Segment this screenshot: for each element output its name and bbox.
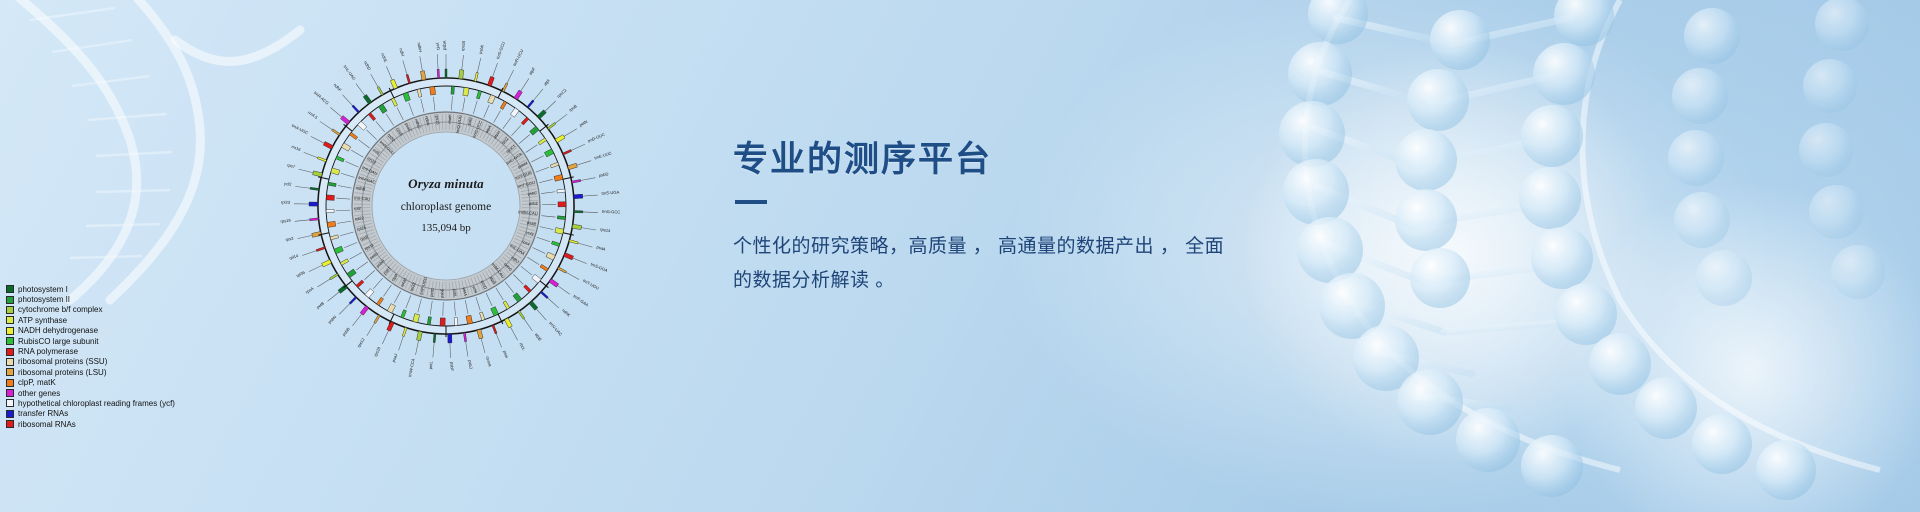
legend-item-label: ribosomal proteins (LSU) — [18, 368, 106, 377]
legend-item: ribosomal proteins (LSU) — [6, 367, 175, 377]
gene-feature-box — [417, 89, 422, 97]
banner-subcopy: 个性化的研究策略，高质量 ， 高通量的数据产出 ， 全面 的数据分析解读 。 — [733, 230, 1263, 297]
gene-label: ndhH — [416, 42, 423, 53]
genome-species-name: Oryza minuta — [236, 176, 656, 192]
gene-feature-box — [391, 98, 397, 106]
gene-feature-box — [518, 311, 525, 320]
legend-item: photosystem II — [6, 294, 175, 304]
gene-feature-box — [547, 122, 555, 129]
banner-headline: 专业的测序平台 — [733, 140, 1433, 180]
gene-feature-box — [488, 95, 496, 104]
gene-feature-box — [334, 246, 343, 254]
gene-feature-box — [491, 307, 499, 316]
headline-underline-rule — [735, 200, 767, 204]
gene-label: ndhI — [398, 48, 405, 57]
gene-label: rps18 — [373, 345, 382, 357]
legend-swatch-icon — [6, 327, 14, 335]
gene-feature-box — [340, 259, 348, 265]
gene-feature-box — [402, 327, 407, 336]
legend-swatch-icon — [6, 348, 14, 356]
gene-feature-box — [406, 74, 410, 83]
gene-label: petL — [428, 360, 434, 369]
gene-label: rrn4.5 — [307, 110, 319, 121]
legend-swatch-icon — [6, 337, 14, 345]
gene-label: rpl36 — [295, 269, 306, 278]
gene-feature-box — [474, 72, 478, 81]
legend-swatch-icon — [6, 379, 14, 387]
legend-item-label: clpP, matK — [18, 378, 56, 387]
legend-item-label: ATP synthase — [18, 316, 67, 325]
gene-feature-box — [466, 315, 473, 324]
legend-swatch-icon — [6, 306, 14, 314]
gene-feature-box — [427, 317, 431, 325]
legend-item: ribosomal RNAs — [6, 419, 175, 429]
gene-feature-box — [377, 87, 383, 96]
gene-feature-box — [514, 90, 522, 100]
gene-label: ndhF — [333, 82, 343, 93]
legend-item-label: cytochrome b/f complex — [18, 305, 102, 314]
gene-label: trnS-GGA — [590, 261, 609, 273]
legend-item-label: other genes — [18, 389, 60, 398]
gene-label: atpF — [528, 66, 537, 76]
gene-feature-box — [527, 100, 534, 108]
gene-feature-box — [503, 301, 510, 309]
legend-item-label: photosystem II — [18, 295, 70, 304]
gene-feature-box — [316, 247, 325, 252]
gene-feature-box — [440, 318, 445, 326]
legend-item-label: NADH dehydrogenase — [18, 326, 98, 335]
gene-label: ndhK — [561, 308, 572, 318]
gene-feature-box — [430, 87, 436, 96]
gene-label: ndhD — [363, 60, 372, 71]
gene-feature-box — [463, 87, 469, 96]
gene-feature-box — [476, 91, 481, 100]
legend-item-label: hypothetical chloroplast reading frames … — [18, 399, 175, 408]
gene-label: rps3 — [285, 235, 295, 242]
gene-feature-box — [349, 296, 357, 304]
gene-label: trnV-UAC — [548, 321, 563, 337]
gene-feature-box — [550, 162, 559, 168]
legend-item: cytochrome b/f complex — [6, 305, 175, 315]
gene-feature-box — [403, 92, 410, 101]
legend-item: ATP synthase — [6, 315, 175, 325]
gene-label: ycf1 — [436, 43, 441, 52]
gene-feature-box — [390, 79, 397, 89]
legend-swatch-icon — [6, 358, 14, 366]
gene-feature-box — [323, 141, 333, 149]
gene-feature-box — [330, 235, 339, 240]
gene-feature-box — [317, 157, 326, 162]
gene-label: trnW-CCA — [407, 358, 416, 377]
gene-label: atpE — [534, 332, 543, 342]
gene-label: trnR-UCU — [512, 48, 524, 66]
legend-item-label: RubisCO large subunit — [18, 337, 98, 346]
gene-feature-box — [540, 291, 548, 299]
gene-feature-box — [368, 113, 375, 121]
gene-label: cemA — [485, 356, 493, 368]
gene-feature-box — [332, 129, 341, 136]
gene-feature-box — [454, 317, 458, 325]
gene-label: trnA-UGC — [291, 123, 309, 136]
gene-feature-box — [433, 333, 436, 342]
gene-feature-box — [336, 156, 345, 162]
gene-label: trnT-UGU — [582, 278, 600, 291]
gene-feature-box — [463, 333, 466, 342]
gene-feature-box — [417, 331, 423, 341]
gene-feature-box — [363, 94, 372, 104]
banner-subcopy-line-2: 的数据分析解读 。 — [733, 264, 1263, 297]
gene-label: trnE-UUC — [594, 150, 612, 160]
gene-feature-box — [564, 253, 574, 260]
gene-feature-box — [360, 306, 369, 316]
gene-label: matK — [447, 114, 453, 124]
gene-feature-box — [413, 314, 420, 323]
gene-label: psbJ — [467, 360, 473, 369]
legend-swatch-icon — [6, 316, 14, 324]
legend-item: hypothetical chloroplast reading frames … — [6, 398, 175, 408]
gene-label: trnR-ACG — [313, 90, 330, 105]
genome-length: 135,094 bp — [236, 222, 656, 234]
gene-label: psaA — [596, 244, 607, 251]
gene-label: atpI — [542, 78, 550, 86]
gene-feature-box — [401, 310, 407, 319]
gene-label: psaJ — [391, 353, 398, 363]
legend-item-label: ribosomal proteins (SSU) — [18, 357, 107, 366]
gene-feature-box — [488, 76, 495, 86]
legend-item: NADH dehydrogenase — [6, 326, 175, 336]
legend-swatch-icon — [6, 389, 14, 397]
gene-feature-box — [555, 135, 565, 143]
banner-subcopy-line-1: 个性化的研究策略，高质量 ， 高通量的数据产出 ， 全面 — [733, 230, 1263, 263]
gene-feature-box — [477, 329, 483, 339]
gene-feature-box — [502, 83, 508, 92]
legend-item: clpP, matK — [6, 378, 175, 388]
gene-label: rps16 — [460, 40, 466, 51]
legend-item-label: RNA polymerase — [18, 347, 78, 356]
genome-center-caption: Oryza minuta chloroplast genome 135,094 … — [236, 176, 656, 234]
legend-item-label: transfer RNAs — [18, 409, 68, 418]
gene-label: psaI — [502, 350, 509, 359]
gene-feature-box — [538, 138, 546, 145]
gene-feature-box — [445, 69, 447, 78]
gene-feature-box — [504, 318, 512, 328]
gene-feature-box — [500, 101, 507, 109]
legend-swatch-icon — [6, 399, 14, 407]
gene-feature-box — [540, 264, 548, 271]
gene-feature-box — [347, 269, 356, 278]
gene-feature-box — [451, 86, 454, 94]
gene-feature-box — [524, 285, 532, 293]
legend-item: transfer RNAs — [6, 409, 175, 419]
gene-label: psbE — [439, 288, 444, 298]
genome-subtitle: chloroplast genome — [236, 201, 656, 213]
gene-feature-box — [551, 241, 560, 246]
gene-label: psbN — [327, 314, 337, 324]
gene-feature-box — [322, 259, 332, 266]
gene-feature-box — [510, 108, 519, 117]
genome-legend: photosystem Iphotosystem IIcytochrome b/… — [6, 284, 175, 429]
gene-feature-box — [352, 105, 360, 113]
gene-label: psbF — [449, 362, 454, 372]
gene-label: trnL-UAG — [343, 64, 357, 81]
legend-item: ribosomal proteins (SSU) — [6, 357, 175, 367]
gene-feature-box — [492, 325, 497, 334]
gene-label: petB — [315, 300, 325, 309]
gene-feature-box — [568, 163, 578, 170]
gene-label: rpl14 — [289, 253, 300, 261]
gene-feature-box — [330, 273, 339, 279]
legend-item: RubisCO large subunit — [6, 336, 175, 346]
gene-feature-box — [376, 297, 383, 305]
gene-label: trnS-GCU — [495, 41, 506, 60]
gene-label: trnD-GUC — [587, 132, 606, 144]
gene-feature-box — [448, 334, 452, 343]
gene-feature-box — [558, 267, 567, 273]
gene-feature-box — [356, 280, 364, 288]
legend-swatch-icon — [6, 368, 14, 376]
gene-label: psbL — [452, 288, 458, 298]
gene-label: petN — [578, 119, 588, 128]
gene-feature-box — [331, 168, 340, 175]
gene-label: rbcL — [519, 342, 527, 352]
legend-swatch-icon — [6, 285, 14, 293]
legend-swatch-icon — [6, 420, 14, 428]
sequencing-platform-banner: psbAmatKrps16trnQ-UUGpsbKpsbItrnS-GCUtrn… — [0, 0, 1920, 512]
gene-feature-box — [513, 293, 522, 302]
gene-label: ndhE — [380, 52, 388, 63]
gene-feature-box — [479, 312, 484, 321]
legend-item: other genes — [6, 388, 175, 398]
legend-item: RNA polymerase — [6, 346, 175, 356]
gene-label: psbB — [341, 326, 351, 337]
gene-label: trnF-GAA — [572, 293, 589, 307]
gene-label: rps7 — [287, 162, 297, 169]
gene-feature-box — [387, 321, 394, 331]
legend-item-label: ribosomal RNAs — [18, 420, 76, 429]
gene-label: rpoA — [305, 286, 315, 295]
legend-swatch-icon — [6, 296, 14, 304]
gene-label: rpoB — [568, 103, 578, 112]
gene-feature-box — [569, 240, 578, 244]
gene-label: psbK — [478, 44, 485, 54]
gene-feature-box — [374, 315, 380, 324]
gene-feature-box — [437, 69, 440, 78]
legend-item-label: photosystem I — [18, 285, 68, 294]
gene-feature-box — [420, 71, 425, 81]
gene-feature-box — [349, 132, 357, 139]
gene-label: psbA — [442, 40, 447, 50]
gene-feature-box — [521, 117, 529, 125]
gene-feature-box — [549, 279, 559, 287]
gene-feature-box — [459, 70, 464, 79]
legend-swatch-icon — [6, 410, 14, 418]
legend-item: photosystem I — [6, 284, 175, 294]
gene-label: rrn16 — [291, 144, 302, 152]
gene-label: rpoC2 — [556, 87, 568, 99]
gene-label: rps12 — [356, 336, 366, 348]
banner-copy: 专业的测序平台 个性化的研究策略，高质量 ， 高通量的数据产出 ， 全面 的数据… — [733, 140, 1433, 297]
gene-feature-box — [546, 252, 555, 260]
gene-feature-box — [563, 149, 572, 154]
